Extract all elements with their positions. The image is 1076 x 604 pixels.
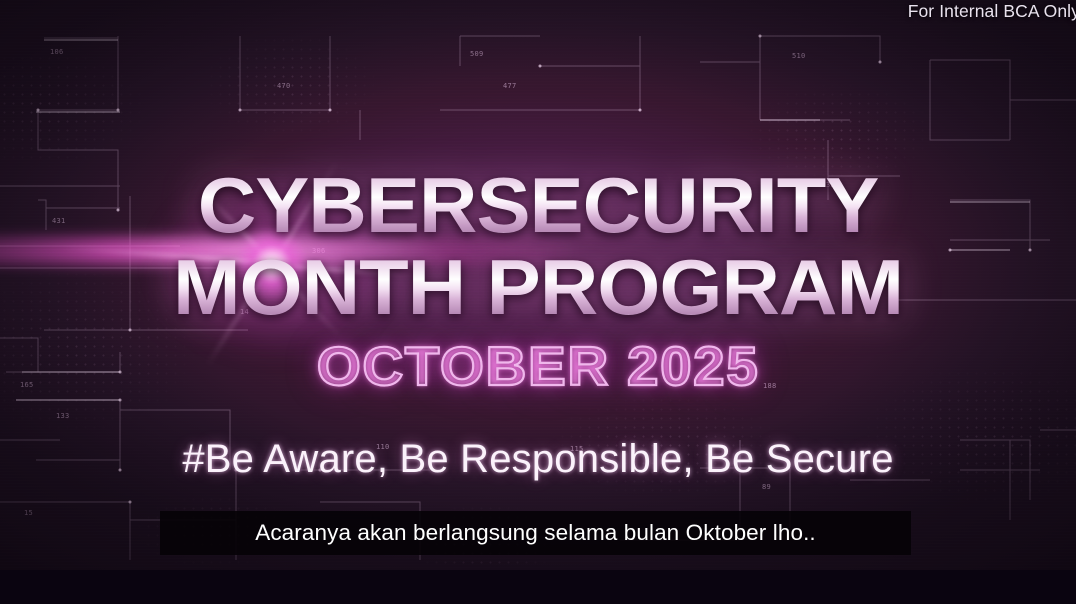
subtitle-caption-text: Acaranya akan berlangsung selama bulan O… — [255, 520, 816, 546]
internal-use-notice: For Internal BCA Only — [908, 1, 1076, 22]
title-line-2: MONTH PROGRAM — [0, 248, 1076, 326]
title-subtitle-date: OCTOBER 2025 — [0, 338, 1076, 394]
tagline: #Be Aware, Be Responsible, Be Secure — [0, 436, 1076, 482]
title-block: CYBERSECURITY MONTH PROGRAM OCTOBER 2025 — [0, 166, 1076, 394]
subtitle-caption-bar: Acaranya akan berlangsung selama bulan O… — [160, 511, 911, 555]
title-line-1: CYBERSECURITY — [0, 166, 1076, 244]
letterbox-bottom — [0, 570, 1076, 604]
video-frame: 1065094774705103364313061416518813311011… — [0, 0, 1076, 604]
